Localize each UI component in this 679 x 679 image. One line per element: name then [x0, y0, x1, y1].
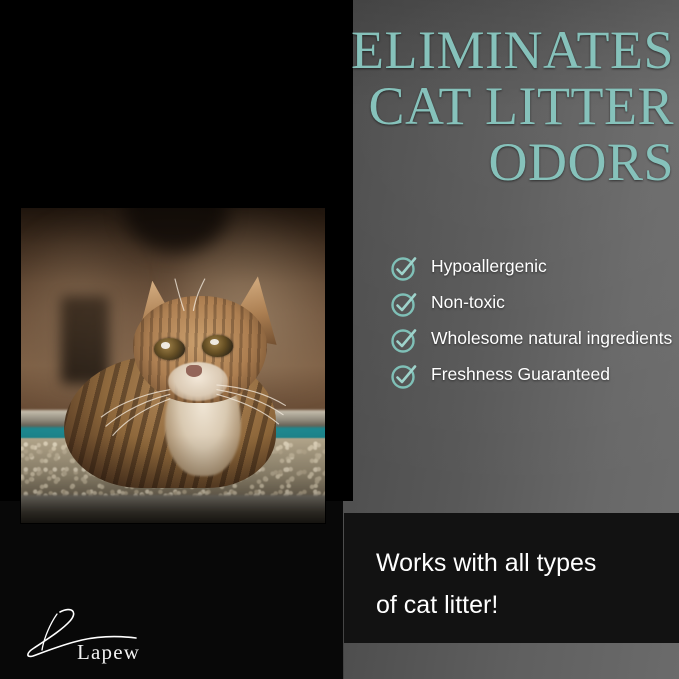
benefit-label: Hypoallergenic — [431, 252, 547, 278]
tabby-kitten-in-litter-box-photo — [21, 208, 325, 523]
photo-color-grade — [21, 208, 325, 523]
brand-name: Lapew — [77, 640, 140, 665]
benefits-list: Hypoallergenic Non-toxic Wholesome natur… — [389, 252, 675, 396]
photo-scene — [21, 208, 325, 523]
headline-line-1: ELIMINATES — [300, 22, 674, 78]
check-circle-icon — [389, 253, 419, 283]
benefit-label: Freshness Guaranteed — [431, 360, 610, 386]
callout-line-1: Works with all types — [376, 542, 661, 584]
callout-line-2: of cat litter! — [376, 584, 661, 626]
brand-logo: Lapew — [24, 604, 174, 666]
list-item: Non-toxic — [389, 288, 675, 319]
headline-line-3: ODORS — [300, 134, 674, 190]
check-circle-icon — [389, 325, 419, 355]
list-item: Hypoallergenic — [389, 252, 675, 283]
check-circle-icon — [389, 361, 419, 391]
check-circle-icon — [389, 289, 419, 319]
bottom-gray-strip — [344, 643, 679, 679]
product-infographic: ELIMINATES CAT LITTER ODORS Hypoallergen… — [0, 0, 679, 679]
list-item: Freshness Guaranteed — [389, 360, 675, 391]
benefit-label: Non-toxic — [431, 288, 505, 314]
page-title: ELIMINATES CAT LITTER ODORS — [300, 22, 674, 190]
benefit-label: Wholesome natural ingredients — [431, 324, 672, 350]
callout-box: Works with all types of cat litter! — [344, 513, 679, 643]
headline-line-2: CAT LITTER — [300, 78, 674, 134]
callout-text: Works with all types of cat litter! — [376, 542, 661, 626]
list-item: Wholesome natural ingredients — [389, 324, 675, 355]
